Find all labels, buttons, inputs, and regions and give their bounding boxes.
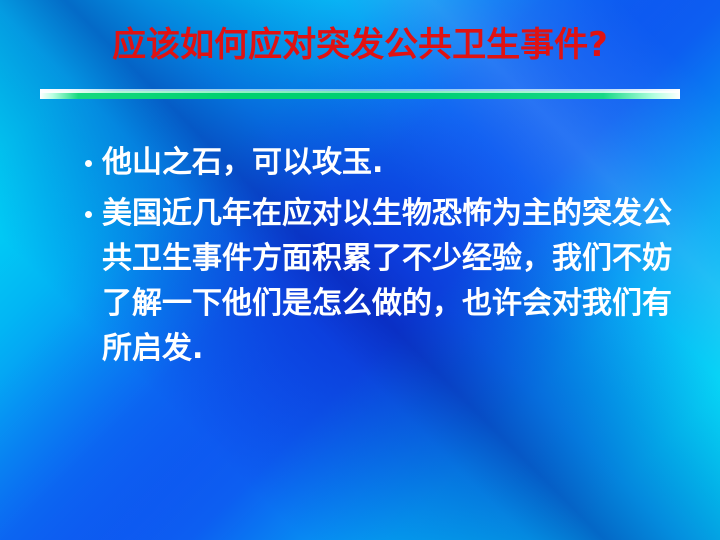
bullet-list: 他山之石，可以攻玉. 美国近几年在应对以生物恐怖为主的突发公共卫生事件方面积累了… [78,140,678,377]
bullet-text: 他山之石，可以攻玉. [102,140,678,185]
list-item: 他山之石，可以攻玉. [78,140,678,185]
presentation-slide: 应该如何应对突发公共卫生事件? 他山之石，可以攻玉. 美国近几年在应对以生物恐怖… [0,0,720,540]
title-divider [40,89,680,100]
divider-highlight [40,89,680,93]
slide-content: 应该如何应对突发公共卫生事件? 他山之石，可以攻玉. 美国近几年在应对以生物恐怖… [0,0,720,540]
bullet-dot-icon [85,211,92,218]
slide-title: 应该如何应对突发公共卫生事件? [0,24,720,66]
bullet-dot-icon [85,160,92,167]
list-item: 美国近几年在应对以生物恐怖为主的突发公共卫生事件方面积累了不少经验，我们不妨了解… [78,191,678,371]
bullet-text: 美国近几年在应对以生物恐怖为主的突发公共卫生事件方面积累了不少经验，我们不妨了解… [102,191,678,371]
